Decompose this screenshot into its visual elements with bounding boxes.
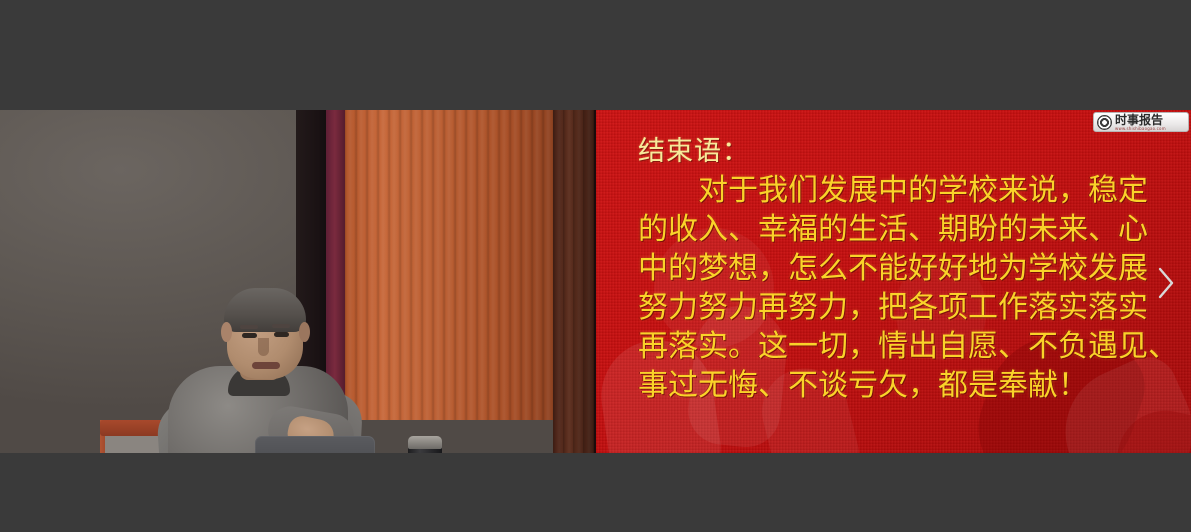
slide-text-block: 结束语： 对于我们发展中的学校来说，稳定 的收入、幸福的生活、期盼的未来、心 中… — [638, 134, 1157, 405]
chevron-right-icon — [1155, 266, 1177, 300]
watermark-text: 时事报告 www.shishibaogao.com — [1115, 114, 1166, 131]
wall-dark-strip — [296, 110, 330, 410]
slide-panel[interactable]: 结束语： 对于我们发展中的学校来说，稳定 的收入、幸福的生活、期盼的未来、心 中… — [594, 110, 1191, 453]
speaker-brow-right — [272, 324, 290, 328]
thermos-cap — [408, 436, 442, 449]
slide-body-line: 中的梦想，怎么不能好好地为学校发展 — [638, 249, 1157, 288]
watermark-logo: 时事报告 www.shishibaogao.com — [1093, 112, 1189, 132]
speaker-nose — [258, 338, 269, 356]
wood-panel-right — [553, 110, 594, 453]
laptop-lid — [255, 436, 375, 453]
watermark-url: www.shishibaogao.com — [1115, 127, 1166, 131]
speaker-brow-left — [240, 325, 258, 329]
speaker-ear-left — [221, 322, 232, 342]
player-stage: 结束语： 对于我们发展中的学校来说，稳定 的收入、幸福的生活、期盼的未来、心 中… — [0, 0, 1191, 532]
slide-body-line: 努力努力再努力，把各项工作落实落实 — [638, 288, 1157, 327]
slide-body-line: 再落实。这一切，情出自愿、不负遇见、 — [638, 327, 1157, 366]
speaker-ear-right — [299, 322, 310, 342]
video-panel[interactable] — [0, 110, 594, 453]
slide-body: 对于我们发展中的学校来说，稳定 的收入、幸福的生活、期盼的未来、心 中的梦想，怎… — [638, 171, 1157, 405]
slide-title: 结束语： — [638, 134, 1157, 169]
next-slide-button[interactable] — [1155, 266, 1177, 300]
speaker-hair — [224, 288, 306, 332]
wood-panel — [345, 110, 555, 420]
slide-body-line: 对于我们发展中的学校来说，稳定 — [638, 171, 1157, 210]
speaker-mouth — [252, 362, 280, 369]
slide-body-line: 事过无悔、不谈亏欠，都是奉献！ — [638, 366, 1157, 405]
content-band: 结束语： 对于我们发展中的学校来说，稳定 的收入、幸福的生活、期盼的未来、心 中… — [0, 110, 1191, 453]
speaker-eye-right — [274, 332, 289, 337]
speaker-eye-left — [242, 333, 257, 338]
slide-body-line: 的收入、幸福的生活、期盼的未来、心 — [638, 210, 1157, 249]
watermark-title: 时事报告 — [1115, 114, 1166, 126]
eye-logo-icon — [1097, 115, 1112, 130]
